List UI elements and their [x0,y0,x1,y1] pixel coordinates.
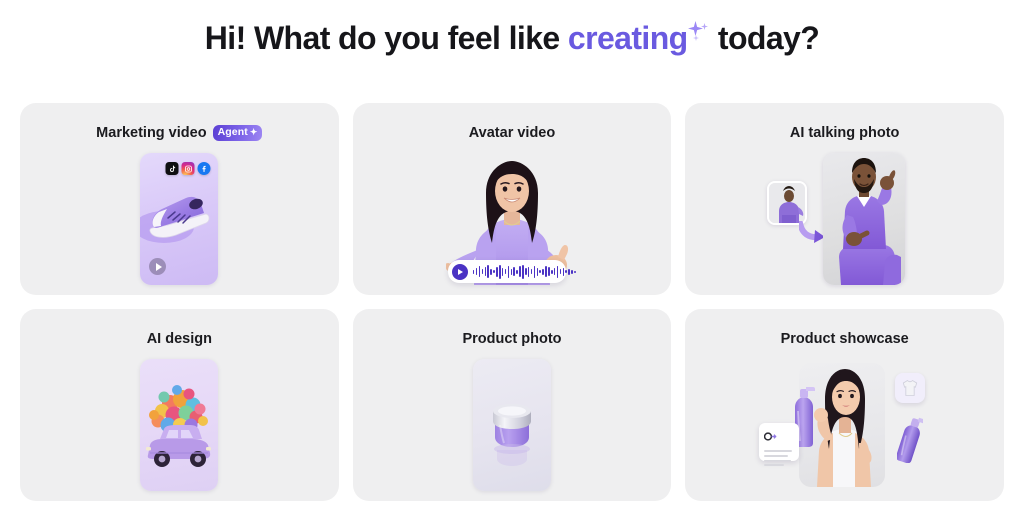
badge-label: Agent [218,127,248,138]
card-marketing-video[interactable]: Marketing video Agent ✦ [20,103,339,295]
play-icon[interactable] [452,264,468,280]
product-photo-preview [473,359,551,491]
card-text-lines [764,450,794,466]
cosmetic-jar-photo [473,359,551,491]
sparkle-icon [688,19,710,49]
card-ai-design[interactable]: AI design [20,309,339,501]
card-title: AI design [20,331,339,347]
page-title-part2: today? [710,20,820,56]
card-thumbnail [685,357,1004,493]
instagram-icon [182,162,195,175]
generated-talking-photo [823,153,905,285]
audio-player[interactable] [448,260,566,283]
card-avatar-video[interactable]: Avatar video [353,103,672,295]
sparkle-icon: ✦ [250,128,258,137]
card-thumbnail [685,151,1004,287]
card-title-label: Marketing video [96,125,206,141]
card-thumbnail [20,357,339,493]
audio-waveform [473,265,576,279]
product-showcase-preview [755,357,935,493]
card-product-photo[interactable]: Product photo [353,309,672,501]
card-title: AI talking photo [685,125,1004,141]
card-thumbnail [20,151,339,287]
card-title: Avatar video [353,125,672,141]
play-icon[interactable] [149,258,166,275]
card-title-label: AI talking photo [790,125,900,141]
facebook-icon [198,162,211,175]
card-title: Marketing video Agent ✦ [20,125,339,141]
card-thumbnail [353,151,672,287]
small-source-photo [767,181,807,225]
social-icons [166,162,211,175]
card-title-label: Avatar video [469,125,556,141]
marketing-video-preview [140,153,218,285]
sneaker-photo [146,191,212,243]
page-title-part1: Hi! What do you feel like [205,20,568,56]
card-title-label: AI design [147,331,212,347]
card-title: Product showcase [685,331,1004,347]
text-info-card [759,423,799,461]
card-title: Product photo [353,331,672,347]
floating-product-bottle [897,415,923,468]
tag-icon [764,432,777,441]
car-with-balloons-photo [140,359,218,491]
shirt-icon [895,373,925,403]
tiktok-icon [166,162,179,175]
card-title-label: Product showcase [781,331,909,347]
avatar-video-preview [446,153,578,285]
creation-picker-page: Hi! What do you feel like creating today… [0,0,1024,530]
ai-design-preview [140,359,218,491]
page-title: Hi! What do you feel like creating today… [0,0,1024,57]
creation-options-grid: Marketing video Agent ✦ [20,103,1004,501]
card-title-label: Product photo [462,331,561,347]
card-product-showcase[interactable]: Product showcase [685,309,1004,501]
page-title-accent: creating [568,20,688,56]
ai-talking-photo-preview [755,153,935,285]
status-badge: Agent ✦ [213,125,263,141]
card-thumbnail [353,357,672,493]
card-ai-talking-photo[interactable]: AI talking photo [685,103,1004,295]
